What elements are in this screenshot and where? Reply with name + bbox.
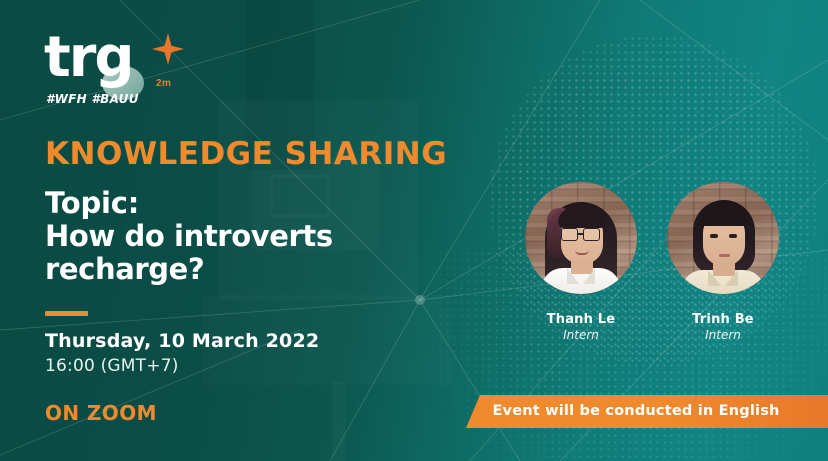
event-time: 16:00 (GMT+7) <box>45 356 179 376</box>
avatar <box>667 182 779 294</box>
speaker-name: Trinh Be <box>667 312 779 327</box>
topic-title-line-1: How do introverts <box>45 219 333 253</box>
avatar <box>525 182 637 294</box>
speaker-card: Thanh Le Intern <box>525 182 637 342</box>
speaker-card: Trinh Be Intern <box>667 182 779 342</box>
speaker-name: Thanh Le <box>525 312 637 327</box>
event-kicker: KNOWLEDGE SHARING <box>45 136 447 172</box>
network-node-dot <box>415 295 425 305</box>
orange-divider <box>45 311 88 316</box>
speaker-role: Intern <box>667 328 779 342</box>
topic-title-line-2: recharge? <box>45 252 204 286</box>
language-banner-text: Event will be conducted in English <box>466 395 806 428</box>
logo-tagline: #WFH #BAUU <box>46 92 139 106</box>
logo-wordmark: trg <box>44 30 132 86</box>
event-poster: trg 2m #WFH #BAUU KNOWLEDGE SHARING Topi… <box>0 0 828 461</box>
speaker-role: Intern <box>525 328 637 342</box>
event-platform: ON ZOOM <box>45 401 157 425</box>
trg-logo: trg 2m #WFH #BAUU <box>44 30 194 110</box>
four-point-star-icon <box>151 32 185 66</box>
logo-superscript: 2m <box>156 78 171 89</box>
speaker-portrait <box>525 182 637 294</box>
language-banner: Event will be conducted in English <box>466 395 828 428</box>
speaker-portrait <box>667 182 779 294</box>
eyeglasses-icon <box>561 228 604 242</box>
event-date: Thursday, 10 March 2022 <box>45 330 319 352</box>
topic-label: Topic: <box>45 186 139 220</box>
